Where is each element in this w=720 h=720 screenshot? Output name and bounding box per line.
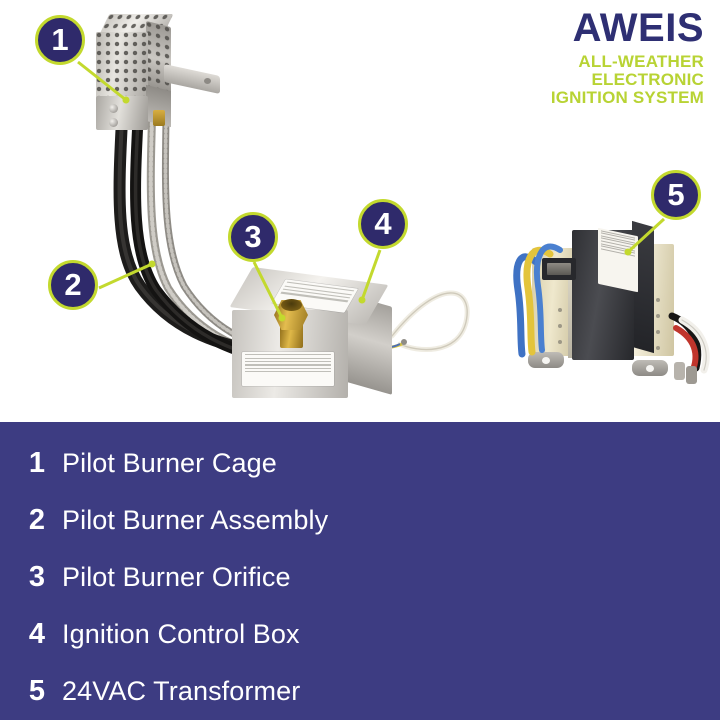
transformer xyxy=(506,220,711,395)
product-diagram-page: AWEIS ALL-WEATHER ELECTRONIC IGNITION SY… xyxy=(0,0,720,720)
burner-screw-lower xyxy=(109,118,118,127)
legend-item-5: 5 24VAC Transformer xyxy=(0,668,720,714)
callout-badge-4[interactable]: 4 xyxy=(358,199,408,249)
callout-badge-2[interactable]: 2 xyxy=(48,260,98,310)
control-box-front-label xyxy=(242,352,334,386)
legend-item-3: 3 Pilot Burner Orifice xyxy=(0,554,720,600)
legend-number-5: 5 xyxy=(0,675,62,708)
product-photo-stage: AWEIS ALL-WEATHER ELECTRONIC IGNITION SY… xyxy=(0,0,720,422)
bracket-hole xyxy=(204,78,211,84)
orifice-bore xyxy=(281,299,302,311)
legend-number-4: 4 xyxy=(0,618,62,651)
ignition-control-box xyxy=(232,276,422,406)
burner-brass-fitting xyxy=(153,110,165,126)
legend-item-1: 1 Pilot Burner Cage xyxy=(0,440,720,486)
legend-label-3: Pilot Burner Orifice xyxy=(62,562,291,593)
legend-label-4: Ignition Control Box xyxy=(62,619,300,650)
transformer-wires xyxy=(506,220,711,395)
callout-badge-1[interactable]: 1 xyxy=(35,15,85,65)
mounting-bracket xyxy=(164,64,220,94)
legend-label-5: 24VAC Transformer xyxy=(62,676,300,707)
callout-badge-5[interactable]: 5 xyxy=(651,170,701,220)
burner-screw-upper xyxy=(109,104,118,113)
burner-body-front xyxy=(96,96,148,130)
callout-badge-3[interactable]: 3 xyxy=(228,212,278,262)
legend-number-1: 1 xyxy=(0,447,62,480)
legend-number-3: 3 xyxy=(0,561,62,594)
legend-label-1: Pilot Burner Cage xyxy=(62,448,277,479)
legend-number-2: 2 xyxy=(0,504,62,537)
legend-label-2: Pilot Burner Assembly xyxy=(62,505,328,536)
legend-panel: 1 Pilot Burner Cage 2 Pilot Burner Assem… xyxy=(0,422,720,720)
legend-item-2: 2 Pilot Burner Assembly xyxy=(0,497,720,543)
pilot-burner-cage xyxy=(96,14,226,134)
legend-item-4: 4 Ignition Control Box xyxy=(0,611,720,657)
cage-front-face xyxy=(96,32,148,98)
